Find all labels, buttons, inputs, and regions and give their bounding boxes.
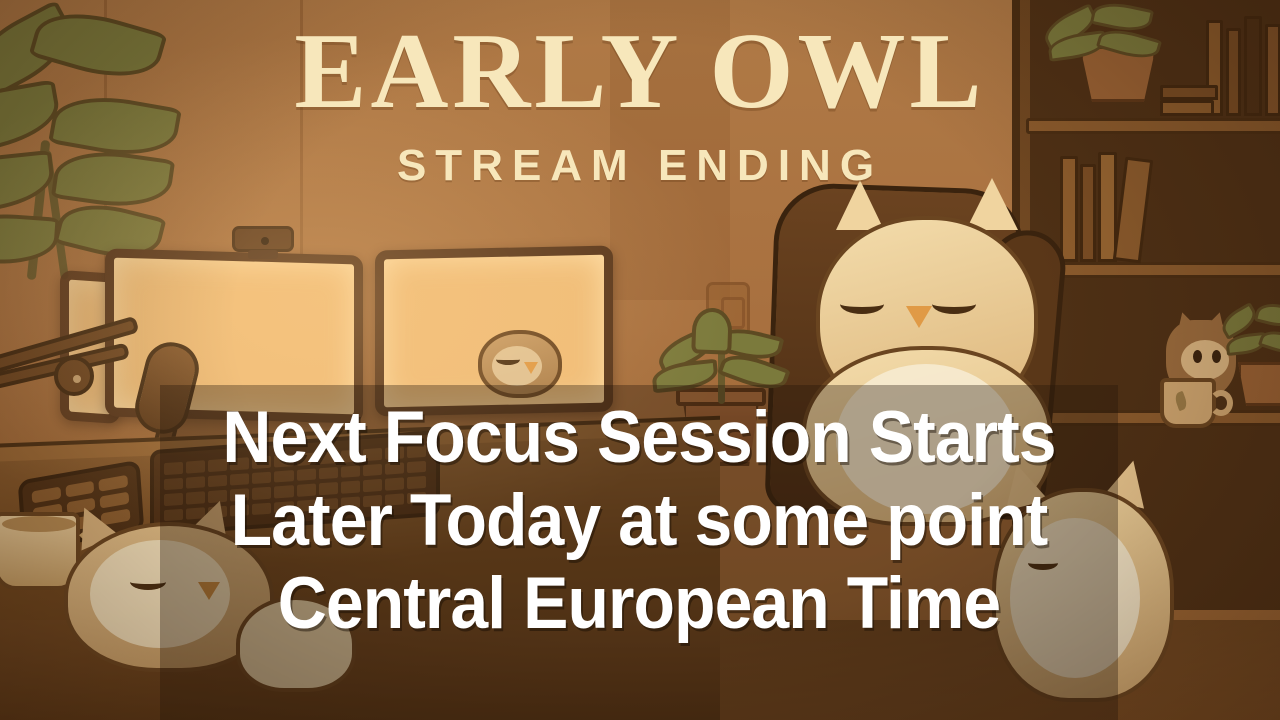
stream-ending-overlay: EARLY OWL STREAM ENDING Next Focus Sessi… xyxy=(0,0,1280,720)
page-title: EARLY OWL xyxy=(0,18,1280,126)
caption-text: Next Focus Session Starts Later Today at… xyxy=(194,396,1085,646)
caption-line-3: Central European Time xyxy=(194,562,1085,645)
caption-line-2: Later Today at some point xyxy=(194,479,1085,562)
title-block: EARLY OWL STREAM ENDING xyxy=(0,18,1280,188)
caption-line-1: Next Focus Session Starts xyxy=(194,396,1085,479)
page-subtitle: STREAM ENDING xyxy=(0,144,1280,188)
